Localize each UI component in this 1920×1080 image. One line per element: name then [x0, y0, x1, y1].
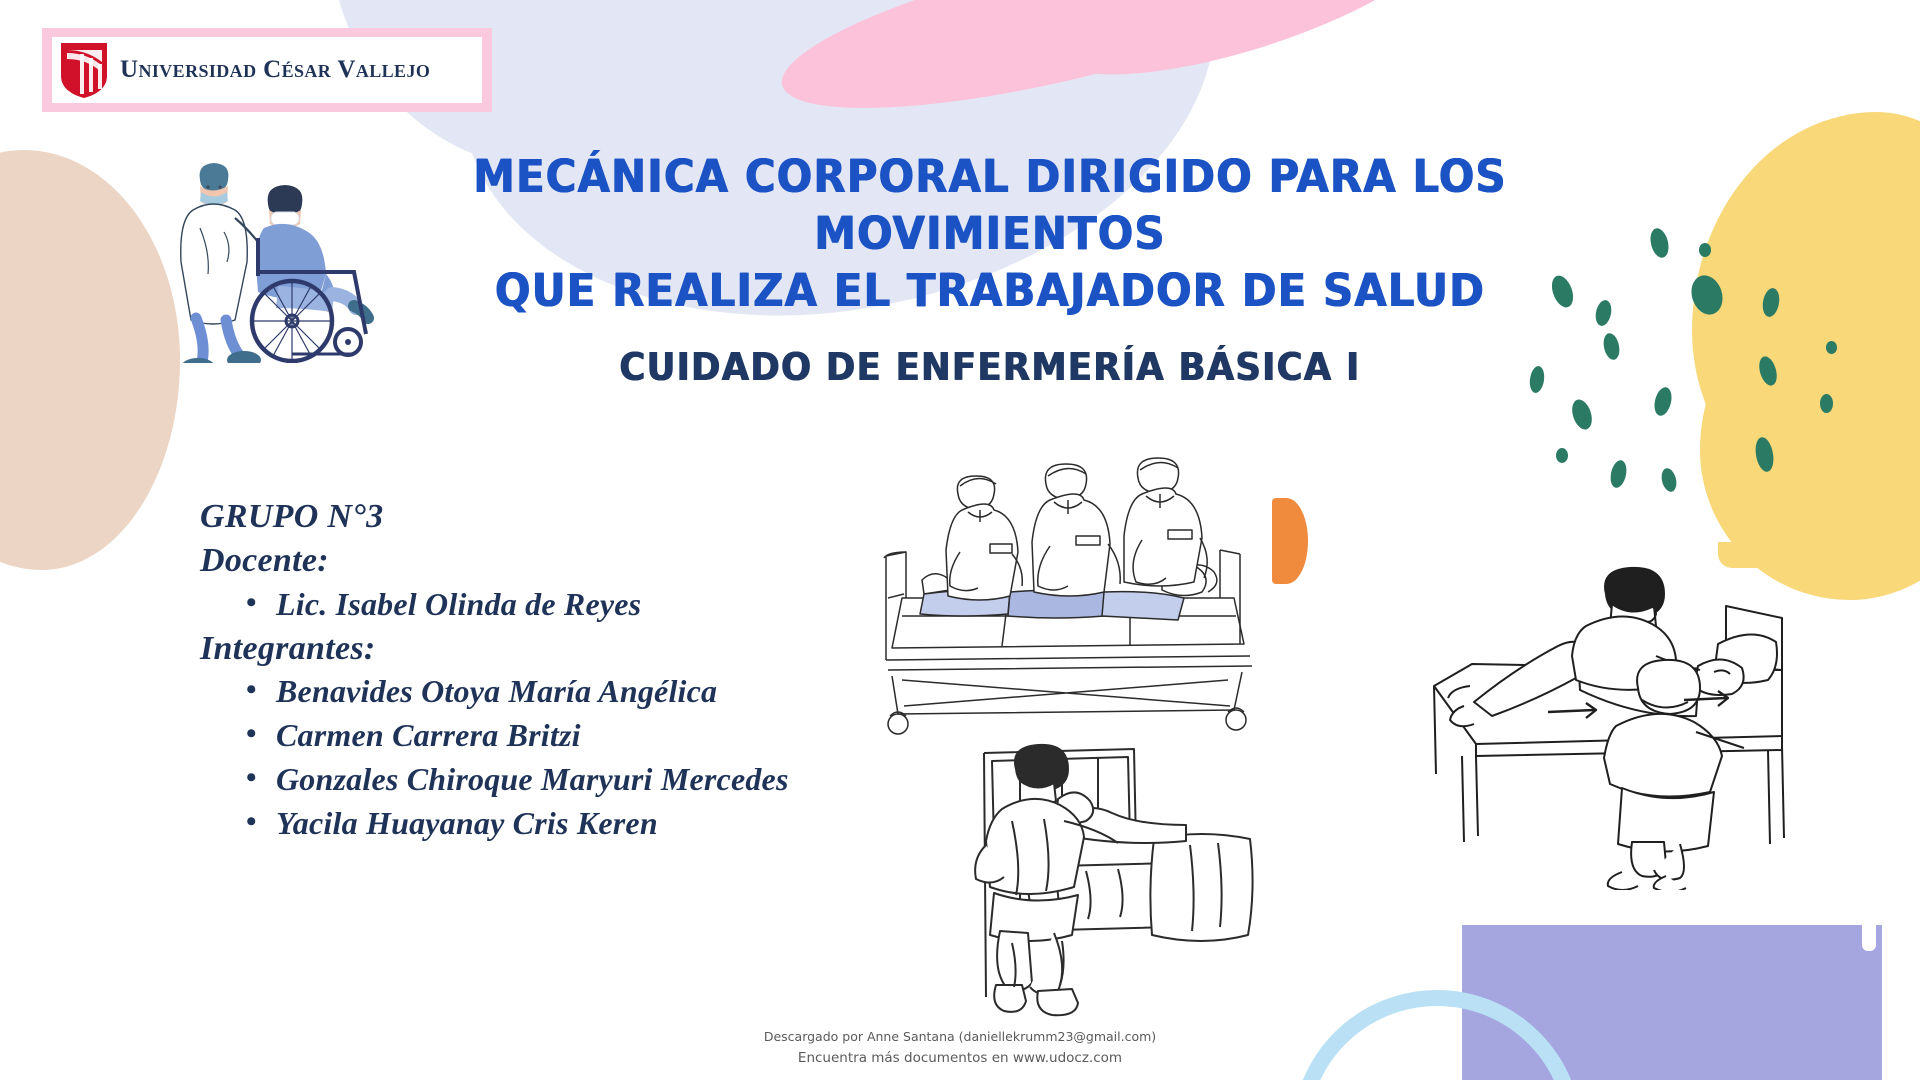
teal-dot: [1820, 394, 1833, 413]
teal-dot: [1687, 271, 1728, 318]
university-logo: Universidad César Vallejo: [42, 28, 492, 112]
watermark-site-line: Encuentra más documentos en www.udocz.co…: [0, 1050, 1920, 1066]
caregiver-squat-lift-illustration: [958, 735, 1288, 1035]
page-title-line-1: MECÁNICA CORPORAL DIRIGIDO PARA LOS MOVI…: [376, 148, 1604, 262]
group-label: GRUPO N°3: [200, 495, 940, 539]
pink-brush-stroke: [769, 0, 1342, 143]
yellow-blob-shape: [1692, 112, 1920, 532]
member-list-item: Gonzales Chiroque Maryuri Mercedes: [246, 758, 940, 802]
teal-dot: [1652, 385, 1675, 417]
members-label: Integrantes:: [200, 627, 940, 671]
page-title-line-2: QUE REALIZA EL TRABAJADOR DE SALUD: [376, 262, 1604, 319]
teal-dot: [1648, 226, 1672, 259]
teal-dot: [1659, 467, 1678, 494]
teal-dot: [1756, 354, 1780, 387]
presentation-cover-slide: Universidad César Vallejo MECÁNICA CORPO…: [0, 0, 1920, 1080]
teal-dot: [1753, 436, 1776, 473]
title-block: MECÁNICA CORPORAL DIRIGIDO PARA LOS MOVI…: [330, 148, 1650, 389]
member-list: Benavides Otoya María AngélicaCarmen Car…: [246, 670, 940, 845]
teal-dot: [1826, 341, 1837, 354]
teal-dot: [1608, 459, 1628, 490]
teacher-list-item: Lic. Isabel Olinda de Reyes: [246, 583, 940, 627]
teal-dot: [1569, 397, 1596, 432]
member-list-item: Yacila Huayanay Cris Keren: [246, 802, 940, 846]
teacher-label: Docente:: [200, 539, 940, 583]
yellow-blob-shape-2: [1700, 300, 1920, 600]
watermark-download-line: Descargado por Anne Santana (daniellekru…: [0, 1029, 1920, 1044]
university-logo-text: Universidad César Vallejo: [120, 56, 430, 84]
university-logo-inner: Universidad César Vallejo: [52, 37, 482, 103]
course-subtitle: CUIDADO DE ENFERMERÍA BÁSICA I: [376, 345, 1604, 389]
teal-dot: [1556, 448, 1568, 463]
pink-brush-stroke-2: [1032, 0, 1469, 110]
member-list-item: Benavides Otoya María Angélica: [246, 670, 940, 714]
periwinkle-notch: [1862, 925, 1876, 951]
member-list-item: Carmen Carrera Britzi: [246, 714, 940, 758]
teal-dot: [1699, 243, 1711, 257]
teacher-list: Lic. Isabel Olinda de Reyes: [246, 583, 940, 627]
teal-dot: [1761, 287, 1782, 318]
group-info-block: GRUPO N°3 Docente: Lic. Isabel Olinda de…: [200, 495, 940, 846]
download-watermark: Descargado por Anne Santana (daniellekru…: [0, 1029, 1920, 1066]
two-nurses-repositioning-patient-illustration: [1430, 560, 1830, 890]
shield-book-icon: [58, 40, 110, 100]
